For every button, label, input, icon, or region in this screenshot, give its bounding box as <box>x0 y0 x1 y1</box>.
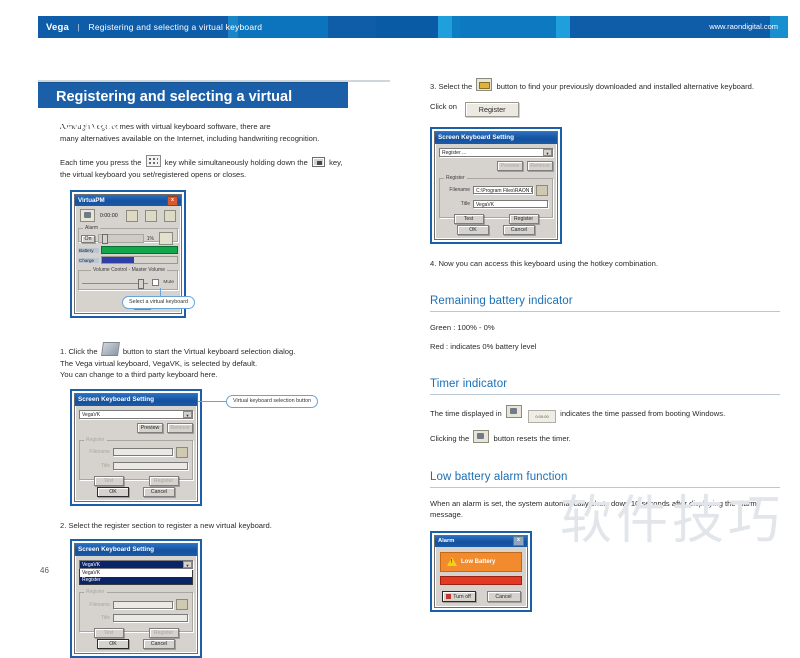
skset1-window: Screen Keyboard Setting VegaVK ▼ Preview… <box>74 393 198 502</box>
hotkey-line-2: the virtual keyboard you set/registered … <box>60 169 390 181</box>
timer-text-d: button resets the timer. <box>494 434 571 443</box>
skset3-combo-value: Register ... <box>442 150 466 156</box>
alarm-window: Alarm x Low Battery Turn off <box>434 535 528 608</box>
callout-select-keyboard: Select a virtual keyboard <box>122 296 195 309</box>
skset1-filename-row: Filename <box>84 447 188 458</box>
alarm-settings-icon[interactable] <box>159 232 173 245</box>
callout-vk-selection-button: Virtual keyboard selection button <box>226 395 318 408</box>
hotkey-text-b: key while simultaneously holding down th… <box>165 158 308 167</box>
skset1-test-button: Test <box>94 476 124 486</box>
hotkey-text-c: key, <box>329 158 342 167</box>
charge-gauge <box>101 256 178 264</box>
fn-key-icon <box>146 155 161 167</box>
chevron-down-icon[interactable]: ▼ <box>183 411 192 418</box>
timer-time-display: 0:00:00 <box>528 410 556 423</box>
banner-subtitle: Registering and selecting a virtual keyb… <box>89 22 263 32</box>
timer-line-2: Clicking the button resets the timer. <box>430 430 780 445</box>
skset3-title: Screen Keyboard Setting <box>438 132 514 144</box>
alarm-titlebar: Alarm x <box>435 536 527 547</box>
skset3-keyboard-combo[interactable]: Register ... ▼ <box>439 148 553 157</box>
alarm-group: Alarm On 1% <box>78 228 178 242</box>
skset3-preview-button: Preview <box>497 161 523 171</box>
step-2-text: 2. Select the register section to regist… <box>60 520 390 532</box>
skset2-filename-field <box>113 601 173 609</box>
skset1-actions: Preview Remove <box>79 423 193 433</box>
virtuapm-title: VirtuaPM <box>78 195 105 206</box>
battery-gauge <box>101 246 178 254</box>
skset3-register-actions: Test Register <box>444 214 548 224</box>
skset2-titlebar: Screen Keyboard Setting <box>75 544 197 556</box>
skset2-title: Screen Keyboard Setting <box>78 544 154 556</box>
low-battery-heading-rule <box>430 487 780 488</box>
battery-row: Battery Charge <box>78 246 178 264</box>
step-1-text-b: button to start the Virtual keyboard sel… <box>123 347 296 356</box>
skset2-register-group: Register Filename Title Te <box>79 592 193 632</box>
skset3-titlebar: Screen Keyboard Setting <box>435 132 557 144</box>
brand-name: Vega <box>46 22 69 33</box>
browse-folder-icon <box>176 447 188 458</box>
timer-reset-icon[interactable] <box>80 209 95 222</box>
volume-slider[interactable] <box>82 280 148 286</box>
volume-row: Mute <box>82 279 174 286</box>
step-3-text-b: button to find your previously downloade… <box>496 82 754 91</box>
page-number: 46 <box>40 566 49 623</box>
step-3-block: 3. Select the button to find your previo… <box>430 78 780 117</box>
volume-slider-handle[interactable] <box>138 279 144 289</box>
skset3-cancel-button[interactable]: Cancel <box>503 225 535 235</box>
hotkey-text-a: Each time you press the <box>60 158 141 167</box>
step-4-text: 4. Now you can access this keyboard usin… <box>430 258 780 270</box>
banner-url[interactable]: www.raondigital.com <box>709 16 778 38</box>
browse-folder-icon-inline <box>476 78 492 91</box>
skset1-title: Screen Keyboard Setting <box>78 394 154 406</box>
alarm-row: On 1% <box>81 232 175 245</box>
alarm-frame: Alarm x Low Battery Turn off <box>430 531 532 612</box>
mute-checkbox[interactable] <box>152 279 159 286</box>
skset3-register-group-label: Register <box>444 175 467 182</box>
skset3-footer: OK Cancel <box>439 225 553 235</box>
skset1-preview-button[interactable]: Preview <box>137 423 163 433</box>
left-column: Registering and selecting a virtual keyb… <box>38 80 390 658</box>
alarm-body: Low Battery Turn off Cancel <box>435 547 527 607</box>
timer-section: Timer indicator The time displayed in 0:… <box>430 378 780 445</box>
skset1-filename-field <box>113 448 173 456</box>
alarm-progress-bar <box>440 576 522 585</box>
skset1-block: Screen Keyboard Setting VegaVK ▼ Preview… <box>70 389 390 506</box>
battery-green-text: Green : 100% - 0% <box>430 322 780 334</box>
timer-line-1: The time displayed in 0:00:00 indicates … <box>430 405 780 423</box>
page-title: Registering and selecting a virtual keyb… <box>38 80 348 108</box>
mute-label: Mute <box>163 280 174 285</box>
banner-segment <box>556 16 570 38</box>
skset3-test-button[interactable]: Test <box>454 214 484 224</box>
page-body: Registering and selecting a virtual keyb… <box>0 38 800 565</box>
skset3-frame: Screen Keyboard Setting Register ... ▼ P… <box>430 127 562 244</box>
alarm-cancel-button[interactable]: Cancel <box>487 591 521 602</box>
skset3-title-field[interactable]: VegaVK <box>473 200 548 208</box>
close-icon[interactable]: x <box>167 196 178 206</box>
toolbar-icon-1[interactable] <box>126 210 138 222</box>
step-1-line-1: 1. Click the button to start the Virtual… <box>60 342 390 358</box>
charge-label: Charge <box>78 258 99 263</box>
skset3-title-row: Title VegaVK <box>444 200 548 208</box>
virtual-keyboard-select-icon-inline <box>101 342 120 356</box>
skset1-footer: OK Cancel <box>79 487 193 497</box>
step-3-line-2: Click on Register <box>430 101 780 117</box>
toolbar-icon-2[interactable] <box>145 210 157 222</box>
watermark: 软件技巧 <box>560 495 784 547</box>
skset2-block: Screen Keyboard Setting VegaVK ▼ VegaVK … <box>70 539 390 658</box>
banner-segment <box>452 16 460 38</box>
skset3-ok-button[interactable]: OK <box>457 225 489 235</box>
skset3-block: Screen Keyboard Setting Register ... ▼ P… <box>430 127 780 244</box>
skset2-register-group-label: Register <box>84 589 107 596</box>
skset1-title-row: Title <box>84 462 188 470</box>
skset3-register-button[interactable]: Register <box>509 214 539 224</box>
skset1-combo-value: VegaVK <box>82 412 100 418</box>
step-1-block: 1. Click the button to start the Virtual… <box>60 342 390 381</box>
skset2-combo-value: VegaVK <box>82 562 100 568</box>
skset1-filename-label: Filename <box>84 448 110 456</box>
skset3-window: Screen Keyboard Setting Register ... ▼ P… <box>434 131 558 240</box>
windows-key-icon <box>312 157 325 167</box>
alarm-group-label: Alarm <box>83 225 100 232</box>
timer-clock-icon <box>506 405 522 418</box>
virtuapm-time: 0:00:00 <box>100 213 118 219</box>
alarm-slider-handle[interactable] <box>102 234 108 244</box>
browse-folder-icon[interactable] <box>536 185 548 196</box>
toolbar-icon-3[interactable] <box>164 210 176 222</box>
skset1-ok-button[interactable]: OK <box>97 487 129 497</box>
timer-heading: Timer indicator <box>430 378 780 390</box>
skset1-register-group-label: Register <box>84 437 107 444</box>
step-1-line-2: The Vega virtual keyboard, VegaVK, is se… <box>60 358 390 370</box>
skset2-register-actions: Test Register <box>84 628 188 638</box>
skset1-body: VegaVK ▼ Preview Remove Register Filenam… <box>75 406 197 501</box>
skset2-body: VegaVK ▼ VegaVK Register Register Filena… <box>75 556 197 653</box>
skset1-cancel-button[interactable]: Cancel <box>143 487 175 497</box>
skset1-register-actions: Test Register <box>84 476 188 486</box>
alarm-title: Alarm <box>438 536 454 547</box>
step-3-click-on: Click on <box>430 102 457 111</box>
charge-gauge-fill <box>102 257 134 263</box>
skset2-filename-label: Filename <box>84 601 110 609</box>
power-icon <box>446 594 451 599</box>
register-button[interactable]: Register <box>465 102 519 117</box>
skset3-register-group: Register Filename C:\Program Files\RAON … <box>439 178 553 218</box>
banner-segment <box>328 16 376 38</box>
hotkey-paragraph: Each time you press the key while simult… <box>60 155 390 180</box>
alarm-message-text: Low Battery <box>461 559 495 565</box>
alarm-message-panel: Low Battery <box>440 552 522 572</box>
timer-heading-rule <box>430 394 780 395</box>
timer-text-c: Clicking the <box>430 434 469 443</box>
hotkey-line-1: Each time you press the key while simult… <box>60 155 390 169</box>
skset1-keyboard-combo[interactable]: VegaVK ▼ <box>79 410 193 419</box>
skset2-title-row: Title <box>84 614 188 622</box>
skset3-filename-field[interactable]: C:\Program Files\RAON Digital <box>473 186 533 194</box>
volume-group: Volume Control - Master Volume Mute <box>78 270 178 290</box>
skset2-title-field <box>113 614 188 622</box>
skset2-register-button: Register <box>149 628 179 638</box>
step-1-line-3: You can change to a third party keyboard… <box>60 369 390 381</box>
skset3-filename-row: Filename C:\Program Files\RAON Digital <box>444 185 548 196</box>
skset2-cancel-button[interactable]: Cancel <box>143 639 175 649</box>
skset3-remove-button: Remove <box>527 161 553 171</box>
timer-reset-icon-inline <box>473 430 489 443</box>
skset2-option-1[interactable]: VegaVK <box>80 570 192 577</box>
banner-segment <box>460 16 556 38</box>
chevron-down-icon[interactable]: ▼ <box>543 149 552 156</box>
skset2-ok-button[interactable]: OK <box>97 639 129 649</box>
skset1-titlebar: Screen Keyboard Setting <box>75 394 197 406</box>
skset3-filename-label: Filename <box>444 186 470 194</box>
section-title-rule <box>38 80 390 82</box>
browse-folder-icon <box>176 599 188 610</box>
alarm-on-button[interactable]: On <box>81 235 95 243</box>
alarm-actions: Turn off Cancel <box>440 591 522 602</box>
skset1-title-label: Title <box>84 462 110 470</box>
skset2-title-label: Title <box>84 614 110 622</box>
battery-heading: Remaining battery indicator <box>430 295 780 307</box>
step-3-text-a: 3. Select the <box>430 82 472 91</box>
step-1-text-a: 1. Click the <box>60 347 98 356</box>
timer-text-a: The time displayed in <box>430 409 502 418</box>
battery-section: Remaining battery indicator Green : 100%… <box>430 295 780 352</box>
banner-segment <box>376 16 438 38</box>
skset1-frame: Screen Keyboard Setting VegaVK ▼ Preview… <box>70 389 202 506</box>
skset1-remove-button: Remove <box>167 423 193 433</box>
alarm-slider[interactable] <box>98 234 144 243</box>
skset1-register-button: Register <box>149 476 179 486</box>
alarm-close-icon[interactable]: x <box>513 536 524 546</box>
alarm-percent: 1% <box>147 236 154 242</box>
battery-red-text: Red : indicates 0% battery level <box>430 341 780 353</box>
virtuapm-titlebar: VirtuaPM x <box>75 195 181 206</box>
step-2-block: 2. Select the register section to regist… <box>60 520 390 532</box>
skset2-option-2[interactable]: Register <box>80 577 192 584</box>
low-battery-heading: Low battery alarm function <box>430 471 780 483</box>
step-3-line-1: 3. Select the button to find your previo… <box>430 78 780 93</box>
skset2-window: Screen Keyboard Setting VegaVK ▼ VegaVK … <box>74 543 198 654</box>
virtuapm-toolbar: 0:00:00 <box>78 209 178 222</box>
skset3-actions: Preview Remove <box>439 161 553 171</box>
banner-divider: | <box>78 16 80 38</box>
skset2-dropdown-list[interactable]: VegaVK Register <box>79 569 193 585</box>
skset3-body: Register ... ▼ Preview Remove Register F… <box>435 144 557 239</box>
section-title-wrap: Registering and selecting a virtual keyb… <box>38 80 390 108</box>
skset1-register-group: Register Filename Title Te <box>79 440 193 480</box>
battery-label: Battery <box>78 248 99 253</box>
battery-heading-rule <box>430 311 780 312</box>
skset2-frame: Screen Keyboard Setting VegaVK ▼ VegaVK … <box>70 539 202 658</box>
virtuapm-block: VirtuaPM x 0:00:00 <box>70 190 390 318</box>
skset2-filename-row: Filename <box>84 599 188 610</box>
banner-title: Vega | Registering and selecting a virtu… <box>46 16 262 38</box>
timer-text-b: indicates the time passed from booting W… <box>560 409 725 418</box>
skset2-test-button: Test <box>94 628 124 638</box>
banner-segment <box>438 16 452 38</box>
volume-group-label: Volume Control - Master Volume <box>91 267 167 274</box>
skset1-title-field <box>113 462 188 470</box>
skset3-title-label: Title <box>444 200 470 208</box>
callout-line-2 <box>198 401 226 402</box>
alarm-turn-off-label: Turn off <box>453 594 471 600</box>
alarm-turn-off-button[interactable]: Turn off <box>442 591 476 602</box>
skset2-footer: OK Cancel <box>79 639 193 649</box>
